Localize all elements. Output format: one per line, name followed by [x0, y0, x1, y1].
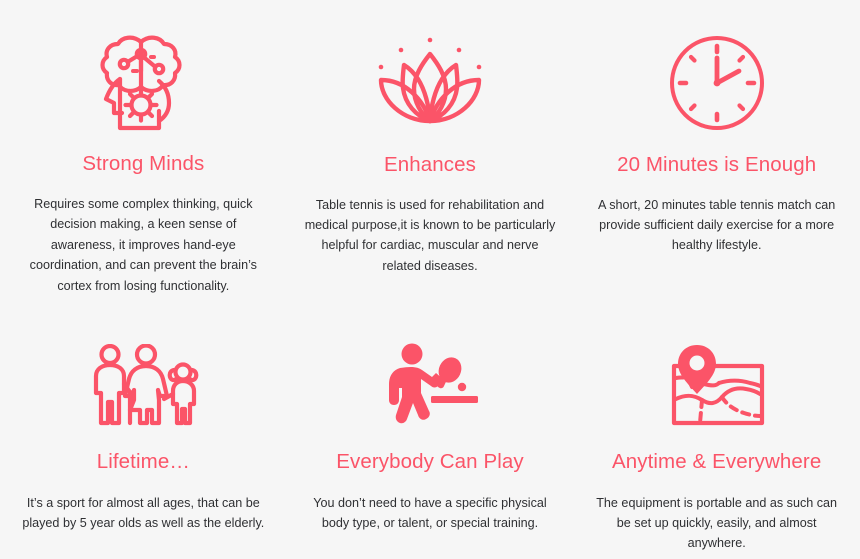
clock-icon: [667, 30, 767, 136]
card-body: You don’t need to have a specific physic…: [305, 493, 556, 534]
family-group-icon: [84, 340, 202, 432]
table-tennis-player-icon: [382, 340, 478, 432]
card-title: 20 Minutes is Enough: [617, 153, 816, 178]
card-title: Anytime & Everywhere: [612, 450, 821, 475]
map-pin-icon: [664, 340, 770, 432]
benefit-card-enhances: Enhances Table tennis is used for rehabi…: [287, 0, 574, 296]
benefit-card-strong-minds: Strong Minds Requires some complex think…: [0, 0, 287, 296]
benefit-card-everybody-can-play: Everybody Can Play You don’t need to hav…: [287, 296, 574, 559]
card-body: Requires some complex thinking, quick de…: [18, 194, 269, 296]
brain-head-gear-icon: [97, 30, 189, 135]
benefits-grid: Strong Minds Requires some complex think…: [0, 0, 860, 559]
card-body: It’s a sport for almost all ages, that c…: [18, 493, 269, 534]
card-title: Strong Minds: [82, 152, 204, 177]
benefit-card-lifetime: Lifetime… It’s a sport for almost all ag…: [0, 296, 287, 559]
card-body: The equipment is portable and as such ca…: [591, 493, 842, 554]
card-title: Everybody Can Play: [336, 450, 524, 475]
card-title: Enhances: [384, 153, 476, 178]
card-title: Lifetime…: [97, 450, 190, 475]
card-body: A short, 20 minutes table tennis match c…: [591, 195, 842, 256]
benefit-card-20-minutes: 20 Minutes is Enough A short, 20 minutes…: [573, 0, 860, 296]
card-body: Table tennis is used for rehabilitation …: [305, 195, 556, 277]
benefit-card-anytime-everywhere: Anytime & Everywhere The equipment is po…: [573, 296, 860, 559]
lotus-flower-icon: [370, 30, 490, 136]
